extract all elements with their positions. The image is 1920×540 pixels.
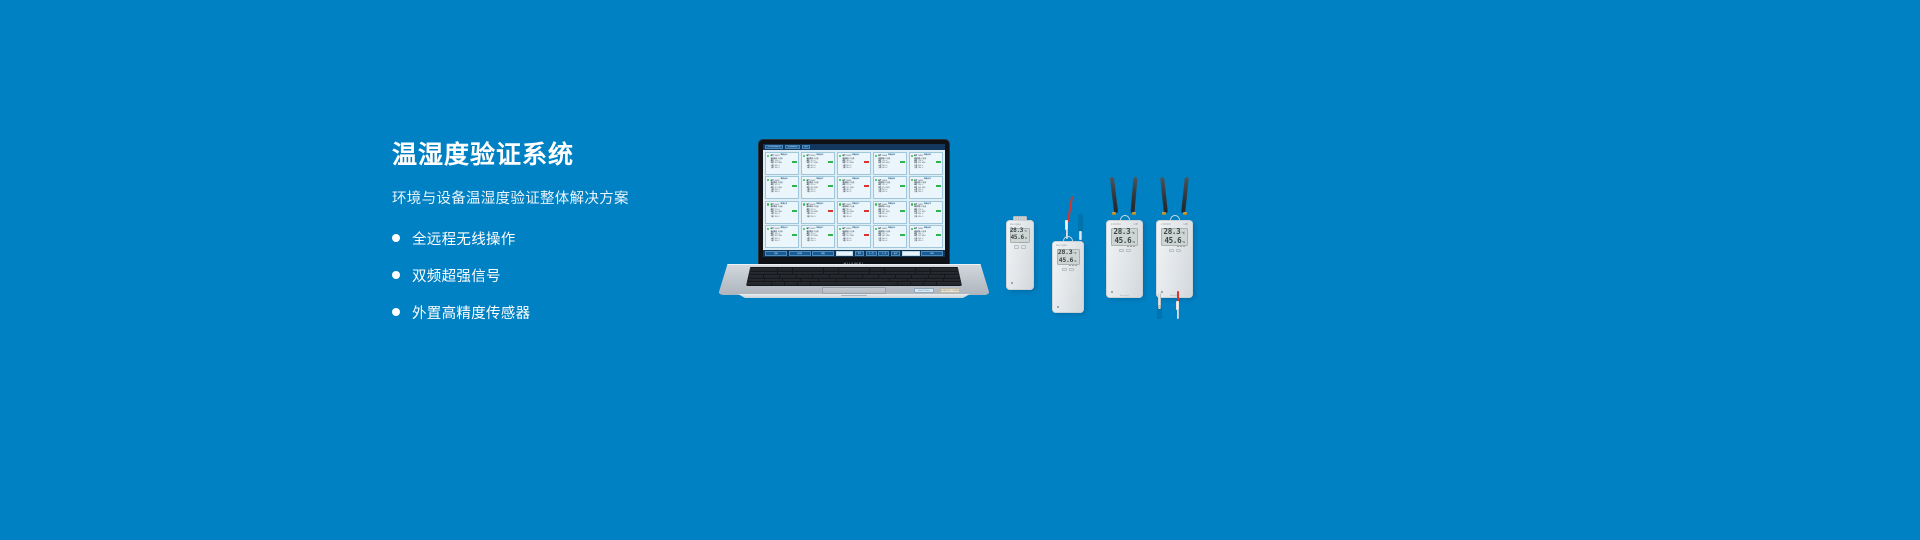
device-status-led-icon <box>1057 306 1059 308</box>
card-row: 下限18.0 ℃ <box>842 192 869 194</box>
keyboard-key[interactable] <box>762 268 777 271</box>
keyboard-key[interactable] <box>747 279 764 282</box>
card-row: 下限18.0 ℃ <box>914 168 941 170</box>
lcd-humidity-line: 45.6 % <box>1060 256 1077 264</box>
page-subtitle: 环境与设备温湿度验证整体解决方案 <box>392 187 732 208</box>
device-body: LN/ON HB 28.3 ℃ 45.6 % <box>1106 220 1143 298</box>
card-row-key: 下限 <box>806 241 809 243</box>
lcd-temperature-line: 28.3 ℃ <box>1114 227 1135 236</box>
card-row-key: 下限 <box>914 241 917 243</box>
device-body: LN/ON HB 28.3 ℃ 45.6 % <box>1156 220 1193 298</box>
keyboard-key[interactable] <box>946 272 961 275</box>
keyboard-key[interactable] <box>854 279 871 282</box>
keyboard-key[interactable] <box>824 272 839 275</box>
copy-block: 温湿度验证系统 环境与设备温湿度验证整体解决方案 全远程无线操作 双频超强信号 … <box>392 142 732 339</box>
monitor-card[interactable]: 监测点09编号DH009通讯状态已连接温度22.9 ℃湿度47.0 %RH上限2… <box>873 176 907 199</box>
card-body: 监测点04编号DH004通讯状态已连接温度23.4 ℃湿度46.8 %RH上限2… <box>878 154 905 173</box>
keyboard-key[interactable] <box>870 272 885 275</box>
card-row: 下限18.0 ℃ <box>771 168 798 170</box>
keyboard-key[interactable] <box>801 279 818 282</box>
keyboard-key[interactable] <box>846 275 862 278</box>
lcd-humidity-value: 45.6 <box>1011 234 1024 241</box>
device-key-up[interactable] <box>1014 245 1019 249</box>
keyboard-key[interactable] <box>778 272 793 275</box>
keyboard-key[interactable] <box>747 275 763 278</box>
device-label-left: LN/ON <box>1111 223 1121 226</box>
laptop-screen: 实时监控-数据列表 历史数据查询 报警 监测点01编号DH001通讯状态已连接温… <box>763 144 945 257</box>
laptop-latch-notch <box>841 295 867 296</box>
card-row-value: 18.0 ℃ <box>882 192 905 194</box>
monitor-card[interactable]: 监测点10编号DH010通讯状态已连接温度24.4 ℃湿度46.3 %RH上限2… <box>909 176 943 199</box>
keyboard-key[interactable] <box>912 275 928 278</box>
keyboard-key[interactable] <box>819 279 836 282</box>
laptop-trackpad[interactable] <box>822 287 886 294</box>
card-row: 下限18.0 ℃ <box>878 241 905 243</box>
monitor-card[interactable]: 监测点19编号DH019通讯状态已连接温度23.7 ℃湿度48.4 %RH上限2… <box>873 225 907 248</box>
probe-cable <box>1067 196 1073 222</box>
card-row: 下限18.0 ℃ <box>842 217 869 219</box>
card-row-key: 下限 <box>842 192 845 194</box>
card-body: 监测点02编号DH002通讯状态已连接温度24.1 ℃湿度47.5 %RH上限2… <box>806 154 833 173</box>
card-row-value: 18.0 ℃ <box>882 217 905 219</box>
card-row-key: 下限 <box>914 192 917 194</box>
keyboard-key[interactable] <box>778 268 793 271</box>
card-row-value: 18.0 ℃ <box>810 217 833 219</box>
lcd-temperature-line: 28.3 ℃ <box>1013 227 1027 234</box>
keyboard-key[interactable] <box>916 272 931 275</box>
sticker-intel: Intel Core <box>914 288 934 293</box>
device-key-down[interactable] <box>1021 245 1026 249</box>
card-body: 监测点14编号DH014通讯状态已连接温度23.8 ℃湿度48.1 %RH上限2… <box>878 203 905 222</box>
monitor-card[interactable]: 监测点16编号DH016通讯状态已连接温度24.0 ℃湿度46.0 %RH上限2… <box>765 225 799 248</box>
card-row-value: 18.0 ℃ <box>810 168 833 170</box>
card-body: 监测点12编号DH012通讯状态已连接温度29.2 ℃湿度53.4 %RH上限2… <box>806 203 833 222</box>
device-keypad[interactable] <box>1169 249 1181 253</box>
keyboard-key[interactable] <box>900 272 915 275</box>
lcd-humidity-value: 45.6 <box>1059 256 1073 264</box>
lcd-humidity-line: 45.6 % <box>1013 234 1027 241</box>
card-row-key: 下限 <box>878 192 881 194</box>
keyboard-key[interactable] <box>924 282 936 285</box>
keyboard-row <box>747 279 961 282</box>
card-row-key: 下限 <box>771 192 774 194</box>
lcd-temperature-unit: ℃ <box>1073 252 1076 255</box>
device-recorder-probe: Hengko 28.3 ℃ 45.6 % <box>1052 196 1084 313</box>
probe-rod-2 <box>1079 231 1082 240</box>
keyboard-key[interactable] <box>863 275 879 278</box>
antenna-left-connector <box>1162 212 1166 215</box>
feature-label: 外置高精度传感器 <box>412 302 530 323</box>
monitor-card[interactable]: 监测点11编号DH011通讯状态已连接温度23.1 ℃湿度49.6 %RH上限2… <box>765 201 799 224</box>
keyboard-key[interactable] <box>900 268 915 271</box>
lcd-temperature-line: 28.3 ℃ <box>1164 227 1185 236</box>
keyboard-key[interactable] <box>926 279 943 282</box>
toolbar-button-update[interactable]: 更新 <box>765 251 787 256</box>
keyboard-key[interactable] <box>824 268 839 271</box>
card-row-value: 18.0 ℃ <box>846 217 869 219</box>
lcd-humidity-unit: % <box>1182 240 1185 244</box>
device-keypad[interactable] <box>1062 268 1074 272</box>
card-row-key: 下限 <box>771 217 774 219</box>
keyboard-key[interactable] <box>854 272 869 275</box>
card-row: 下限18.0 ℃ <box>878 192 905 194</box>
card-body: 监测点16编号DH016通讯状态已连接温度24.0 ℃湿度46.0 %RH上限2… <box>771 227 798 246</box>
toolbar-button-exit[interactable]: 退出 <box>921 251 943 256</box>
card-body: 监测点10编号DH010通讯状态已连接温度24.4 ℃湿度46.3 %RH上限2… <box>914 178 941 197</box>
card-row: 下限18.0 ℃ <box>914 217 941 219</box>
keyboard-key[interactable] <box>808 272 823 275</box>
card-row-value: 18.0 ℃ <box>810 241 833 243</box>
monitor-card[interactable]: 监测点12编号DH012通讯状态已连接温度29.2 ℃湿度53.4 %RH上限2… <box>801 201 835 224</box>
card-body: 监测点06编号DH006通讯状态已连接温度24.7 ℃湿度45.2 %RH上限2… <box>771 178 798 197</box>
toolbar-spacer <box>836 251 854 256</box>
device-status-led-icon <box>1011 282 1013 284</box>
card-status-led-icon <box>875 179 877 181</box>
monitor-card[interactable]: 监测点15编号DH015通讯状态已连接温度22.5 ℃湿度47.7 %RH上限2… <box>909 201 943 224</box>
card-row: 下限18.0 ℃ <box>842 168 869 170</box>
keyboard-key[interactable] <box>944 279 961 282</box>
keyboard-key[interactable] <box>813 275 829 278</box>
keyboard-key[interactable] <box>896 275 912 278</box>
keyboard-key[interactable] <box>808 268 823 271</box>
laptop-base: Intel Core ENERGY STAR <box>718 264 990 300</box>
keyboard-key[interactable] <box>783 279 800 282</box>
keyboard-key[interactable] <box>929 275 945 278</box>
card-status-led-icon <box>767 228 769 230</box>
tab-alarm[interactable]: 报警 <box>802 145 810 149</box>
card-row-key: 下限 <box>842 241 845 243</box>
card-status-led-icon <box>803 179 805 181</box>
keyboard-row <box>747 275 961 278</box>
antenna-right-icon <box>1181 177 1189 213</box>
card-row-value: 18.0 ℃ <box>918 192 941 194</box>
device-label-left: LN/ON <box>1161 223 1171 226</box>
monitor-card[interactable]: 监测点18编号DH018通讯状态已连接温度27.9 ℃湿度52.0 %RH上限2… <box>837 225 871 248</box>
card-row-key: 下限 <box>771 168 774 170</box>
keyboard-key[interactable] <box>811 282 897 285</box>
keyboard-key[interactable] <box>908 279 925 282</box>
keyboard-key[interactable] <box>885 268 900 271</box>
card-row: 下限18.0 ℃ <box>914 192 941 194</box>
tab-history[interactable]: 历史数据查询 <box>785 145 800 149</box>
device-lcd: 28.3 ℃ 45.6 % <box>1057 249 1080 265</box>
keyboard-key[interactable] <box>872 279 889 282</box>
keyboard-key[interactable] <box>854 268 869 271</box>
antenna-left-connector <box>1112 212 1116 215</box>
card-row: 下限18.0 ℃ <box>806 217 833 219</box>
card-row-key: 下限 <box>806 217 809 219</box>
card-row-key: 下限 <box>914 168 917 170</box>
keyboard-key[interactable] <box>946 268 961 271</box>
lcd-humidity-line: 45.6 % <box>1114 236 1135 245</box>
antenna-right-connector <box>1132 212 1136 215</box>
keyboard-key[interactable] <box>747 282 771 285</box>
keyboard-key[interactable] <box>879 275 895 278</box>
card-body: 监测点20编号DH020通讯状态已连接温度24.3 ℃湿度45.9 %RH上限2… <box>914 227 941 246</box>
laptop-keyboard[interactable] <box>746 267 962 286</box>
card-row: 下限18.0 ℃ <box>771 217 798 219</box>
device-recorder-basic: Hengko 28.3 ℃ 45.6 % <box>1006 216 1034 290</box>
device-wireless-dual-antenna-probe: LN/ON HB 28.3 ℃ 45.6 % <box>1156 177 1193 298</box>
card-status-led-icon <box>803 155 805 157</box>
device-lcd: 28.3 ℃ 45.6 % <box>1010 228 1030 243</box>
card-row: 下限18.0 ℃ <box>771 192 798 194</box>
device-key-up[interactable] <box>1119 249 1124 253</box>
monitor-card[interactable]: 监测点04编号DH004通讯状态已连接温度23.4 ℃湿度46.8 %RH上限2… <box>873 152 907 175</box>
card-row-value: 18.0 ℃ <box>775 192 798 194</box>
card-row-value: 18.0 ℃ <box>882 241 905 243</box>
lcd-temperature-unit: ℃ <box>1024 230 1027 233</box>
device-wireless-dual-antenna: LN/ON HB 28.3 ℃ 45.6 % <box>1106 177 1143 298</box>
monitor-card-grid: 监测点01编号DH001通讯状态已连接温度23.6 ℃湿度48.2 %RH上限2… <box>763 150 945 250</box>
card-status-led-icon <box>767 203 769 205</box>
card-row: 下限18.0 ℃ <box>842 241 869 243</box>
keyboard-key[interactable] <box>839 268 854 271</box>
card-status-led-icon <box>839 203 841 205</box>
device-brand: Hengko <box>1056 244 1067 247</box>
lcd-status-icons <box>1013 242 1027 243</box>
card-row-value: 18.0 ℃ <box>846 168 869 170</box>
card-status-led-icon <box>875 228 877 230</box>
keyboard-key[interactable] <box>916 268 931 271</box>
card-status-led-icon <box>767 155 769 157</box>
card-row: 下限18.0 ℃ <box>771 241 798 243</box>
lcd-humidity-value: 45.6 <box>1164 236 1181 245</box>
card-status-led-icon <box>839 228 841 230</box>
monitor-card[interactable]: 监测点07编号DH007通讯状态已连接温度23.3 ℃湿度48.9 %RH上限2… <box>801 176 835 199</box>
card-row-key: 下限 <box>842 217 845 219</box>
card-row: 下限18.0 ℃ <box>878 217 905 219</box>
device-keypad[interactable] <box>1119 249 1131 253</box>
lcd-temperature-unit: ℃ <box>1131 231 1135 235</box>
device-status-led-icon <box>1161 291 1163 293</box>
probe-mesh-filter <box>1078 214 1083 232</box>
monitor-card[interactable]: 监测点05编号DH005通讯状态已连接温度22.8 ℃湿度49.0 %RH上限2… <box>909 152 943 175</box>
card-body: 监测点13编号DH013通讯状态已连接温度28.1 ℃湿度50.8 %RH上限2… <box>842 203 869 222</box>
keyboard-key[interactable] <box>762 272 777 275</box>
keyboard-key[interactable] <box>890 279 907 282</box>
monitor-card[interactable]: 监测点06编号DH006通讯状态已连接温度24.7 ℃湿度45.2 %RH上限2… <box>765 176 799 199</box>
feature-label: 双频超强信号 <box>412 265 501 286</box>
toolbar-spacer-2 <box>902 251 920 256</box>
screen-toolbar: 更新 打印表 数据 首页 上一页 下一页 末页 退出 <box>763 250 945 257</box>
keyboard-key[interactable] <box>793 268 808 271</box>
keyboard-key[interactable] <box>780 275 796 278</box>
keyboard-key[interactable] <box>931 268 946 271</box>
keyboard-row <box>747 268 961 271</box>
lcd-humidity-unit: % <box>1074 260 1076 263</box>
card-body: 监测点18编号DH018通讯状态已连接温度27.9 ℃湿度52.0 %RH上限2… <box>842 227 869 246</box>
antenna-left-icon <box>1110 177 1118 213</box>
device-keypad[interactable] <box>1014 245 1026 249</box>
device-body: Hengko 28.3 ℃ 45.6 % <box>1052 241 1084 313</box>
card-row-value: 18.0 ℃ <box>775 217 798 219</box>
device-lcd: 28.3 ℃ 45.6 % <box>1111 228 1138 246</box>
monitor-card[interactable]: 监测点02编号DH002通讯状态已连接温度24.1 ℃湿度47.5 %RH上限2… <box>801 152 835 175</box>
card-status-led-icon <box>875 155 877 157</box>
keyboard-key[interactable] <box>764 275 780 278</box>
card-row-key: 下限 <box>878 241 881 243</box>
card-status-led-icon <box>875 203 877 205</box>
card-body: 监测点01编号DH001通讯状态已连接温度23.6 ℃湿度48.2 %RH上限2… <box>771 154 798 173</box>
card-body: 监测点03编号DH003通讯状态已连接温度28.9 ℃湿度52.3 %RH上限2… <box>842 154 869 173</box>
card-status-led-icon <box>803 228 805 230</box>
device-key-down[interactable] <box>1126 249 1131 253</box>
promo-banner: 温湿度验证系统 环境与设备温湿度验证整体解决方案 全远程无线操作 双频超强信号 … <box>0 0 1920 540</box>
lcd-temperature-value: 28.3 <box>1010 227 1023 234</box>
card-row-key: 下限 <box>842 168 845 170</box>
keyboard-key[interactable] <box>870 268 885 271</box>
device-body: Hengko 28.3 ℃ 45.6 % <box>1006 220 1034 290</box>
pager-prev[interactable]: 上一页 <box>866 251 877 256</box>
bullet-dot-icon <box>392 308 400 316</box>
lcd-temperature-line: 28.3 ℃ <box>1060 248 1077 256</box>
card-status-led-icon <box>839 179 841 181</box>
card-status-led-icon <box>911 203 913 205</box>
card-row: 下限18.0 ℃ <box>806 168 833 170</box>
device-port-labels: LN/ON HB <box>1156 223 1193 226</box>
monitor-card[interactable]: 监测点20编号DH020通讯状态已连接温度24.3 ℃湿度45.9 %RH上限2… <box>909 225 943 248</box>
device-label-right: HB <box>1134 223 1138 226</box>
card-row: 下限18.0 ℃ <box>806 192 833 194</box>
toolbar-button-print[interactable]: 打印表 <box>789 251 811 256</box>
pager-last[interactable]: 末页 <box>891 251 900 256</box>
card-row-key: 下限 <box>878 217 881 219</box>
keyboard-key[interactable] <box>765 279 782 282</box>
card-row-value: 18.0 ℃ <box>846 192 869 194</box>
lcd-humidity-unit: % <box>1025 237 1027 240</box>
probe-rod <box>1066 229 1069 239</box>
pager-first[interactable]: 首页 <box>855 251 864 256</box>
keyboard-key[interactable] <box>797 275 813 278</box>
card-body: 监测点05编号DH005通讯状态已连接温度22.8 ℃湿度49.0 %RH上限2… <box>914 154 941 173</box>
device-port-labels: LN/ON HB <box>1106 223 1143 226</box>
card-row-key: 下限 <box>914 217 917 219</box>
device-key-up[interactable] <box>1169 249 1174 253</box>
keyboard-key[interactable] <box>885 272 900 275</box>
antenna-right-icon <box>1130 177 1137 213</box>
keyboard-key[interactable] <box>837 279 854 282</box>
card-status-led-icon <box>839 155 841 157</box>
lcd-humidity-value: 45.6 <box>1114 236 1131 245</box>
laptop-illustration: 实时监控-数据列表 历史数据查询 报警 监测点01编号DH001通讯状态已连接温… <box>718 140 990 300</box>
keyboard-key[interactable] <box>793 272 808 275</box>
card-row-value: 18.0 ℃ <box>810 192 833 194</box>
probe-rod-right <box>1177 309 1180 319</box>
keyboard-key[interactable] <box>937 282 961 285</box>
list-item: 全远程无线操作 <box>392 228 732 249</box>
antenna-left-icon <box>1160 177 1168 213</box>
card-body: 监测点17编号DH017通讯状态已连接温度23.2 ℃湿度49.3 %RH上限2… <box>806 227 833 246</box>
lcd-humidity-unit: % <box>1132 240 1135 244</box>
monitor-card[interactable]: 监测点08编号DH008通讯状态已连接温度27.5 ℃湿度51.1 %RH上限2… <box>837 176 871 199</box>
card-row-key: 下限 <box>771 241 774 243</box>
laptop-front-edge <box>738 294 970 298</box>
card-row: 下限18.0 ℃ <box>806 241 833 243</box>
lcd-status-icons <box>1114 246 1135 247</box>
card-body: 监测点15编号DH015通讯状态已连接温度22.5 ℃湿度47.7 %RH上限2… <box>914 203 941 222</box>
keyboard-key[interactable] <box>898 282 910 285</box>
page-title: 温湿度验证系统 <box>392 142 732 170</box>
card-row-key: 下限 <box>806 192 809 194</box>
card-status-led-icon <box>911 179 913 181</box>
hanging-clip-icon <box>1013 216 1027 220</box>
probe-mesh-left <box>1157 305 1162 319</box>
card-row-value: 18.0 ℃ <box>882 168 905 170</box>
keyboard-row <box>747 282 961 285</box>
monitor-card[interactable]: 监测点17编号DH017通讯状态已连接温度23.2 ℃湿度49.3 %RH上限2… <box>801 225 835 248</box>
toolbar-button-data[interactable]: 数据 <box>812 251 834 256</box>
card-status-led-icon <box>911 155 913 157</box>
keyboard-key[interactable] <box>798 282 810 285</box>
pager-next[interactable]: 下一页 <box>878 251 889 256</box>
card-row-value: 18.0 ℃ <box>775 168 798 170</box>
keyboard-key[interactable] <box>747 268 762 271</box>
feature-list: 全远程无线操作 双频超强信号 外置高精度传感器 <box>392 228 732 323</box>
keyboard-key[interactable] <box>911 282 923 285</box>
monitor-card[interactable]: 监测点03编号DH003通讯状态已连接温度28.9 ℃湿度52.3 %RH上限2… <box>837 152 871 175</box>
lcd-status-icons <box>1164 246 1185 247</box>
card-row-key: 下限 <box>878 168 881 170</box>
card-row: 下限18.0 ℃ <box>878 168 905 170</box>
card-status-led-icon <box>911 228 913 230</box>
card-row-value: 18.0 ℃ <box>918 241 941 243</box>
keyboard-key[interactable] <box>772 282 784 285</box>
device-status-led-icon <box>1111 291 1113 293</box>
device-key-down[interactable] <box>1069 268 1074 272</box>
keyboard-row <box>747 272 961 275</box>
device-key-up[interactable] <box>1062 268 1067 272</box>
card-body: 监测点07编号DH007通讯状态已连接温度23.3 ℃湿度48.9 %RH上限2… <box>806 178 833 197</box>
list-item: 外置高精度传感器 <box>392 302 732 323</box>
device-brand: Hengko <box>1106 295 1143 297</box>
bullet-dot-icon <box>392 234 400 242</box>
card-body: 监测点19编号DH019通讯状态已连接温度23.7 ℃湿度48.4 %RH上限2… <box>878 227 905 246</box>
keyboard-key[interactable] <box>747 272 762 275</box>
monitor-card[interactable]: 监测点14编号DH014通讯状态已连接温度23.8 ℃湿度48.1 %RH上限2… <box>873 201 907 224</box>
tab-realtime[interactable]: 实时监控-数据列表 <box>765 145 783 149</box>
lcd-humidity-line: 45.6 % <box>1164 236 1185 245</box>
device-brand: Hengko <box>1156 295 1193 297</box>
keyboard-key[interactable] <box>945 275 961 278</box>
list-item: 双频超强信号 <box>392 265 732 286</box>
keyboard-key[interactable] <box>785 282 797 285</box>
card-body: 监测点11编号DH011通讯状态已连接温度23.1 ℃湿度49.6 %RH上限2… <box>771 203 798 222</box>
keyboard-key[interactable] <box>830 275 846 278</box>
feature-label: 全远程无线操作 <box>412 228 516 249</box>
card-row-value: 18.0 ℃ <box>846 241 869 243</box>
device-label-right: HB <box>1184 223 1188 226</box>
sticker-energy-star: ENERGY STAR <box>940 288 960 293</box>
card-row: 下限18.0 ℃ <box>914 241 941 243</box>
device-lcd: 28.3 ℃ 45.6 % <box>1161 228 1188 246</box>
antenna-right-connector <box>1183 212 1187 215</box>
card-row-value: 18.0 ℃ <box>918 168 941 170</box>
device-key-down[interactable] <box>1176 249 1181 253</box>
monitor-card[interactable]: 监测点13编号DH013通讯状态已连接温度28.1 ℃湿度50.8 %RH上限2… <box>837 201 871 224</box>
monitor-card[interactable]: 监测点01编号DH001通讯状态已连接温度23.6 ℃湿度48.2 %RH上限2… <box>765 152 799 175</box>
card-status-led-icon <box>767 179 769 181</box>
card-body: 监测点09编号DH009通讯状态已连接温度22.9 ℃湿度47.0 %RH上限2… <box>878 178 905 197</box>
lcd-temperature-value: 28.3 <box>1113 227 1130 236</box>
lcd-status-icons <box>1060 265 1077 266</box>
bullet-dot-icon <box>392 271 400 279</box>
keyboard-key[interactable] <box>931 272 946 275</box>
keyboard-key[interactable] <box>839 272 854 275</box>
laptop-lid: 实时监控-数据列表 历史数据查询 报警 监测点01编号DH001通讯状态已连接温… <box>759 140 949 267</box>
card-body: 监测点08编号DH008通讯状态已连接温度27.5 ℃湿度51.1 %RH上限2… <box>842 178 869 197</box>
lcd-temperature-value: 28.3 <box>1058 248 1072 256</box>
